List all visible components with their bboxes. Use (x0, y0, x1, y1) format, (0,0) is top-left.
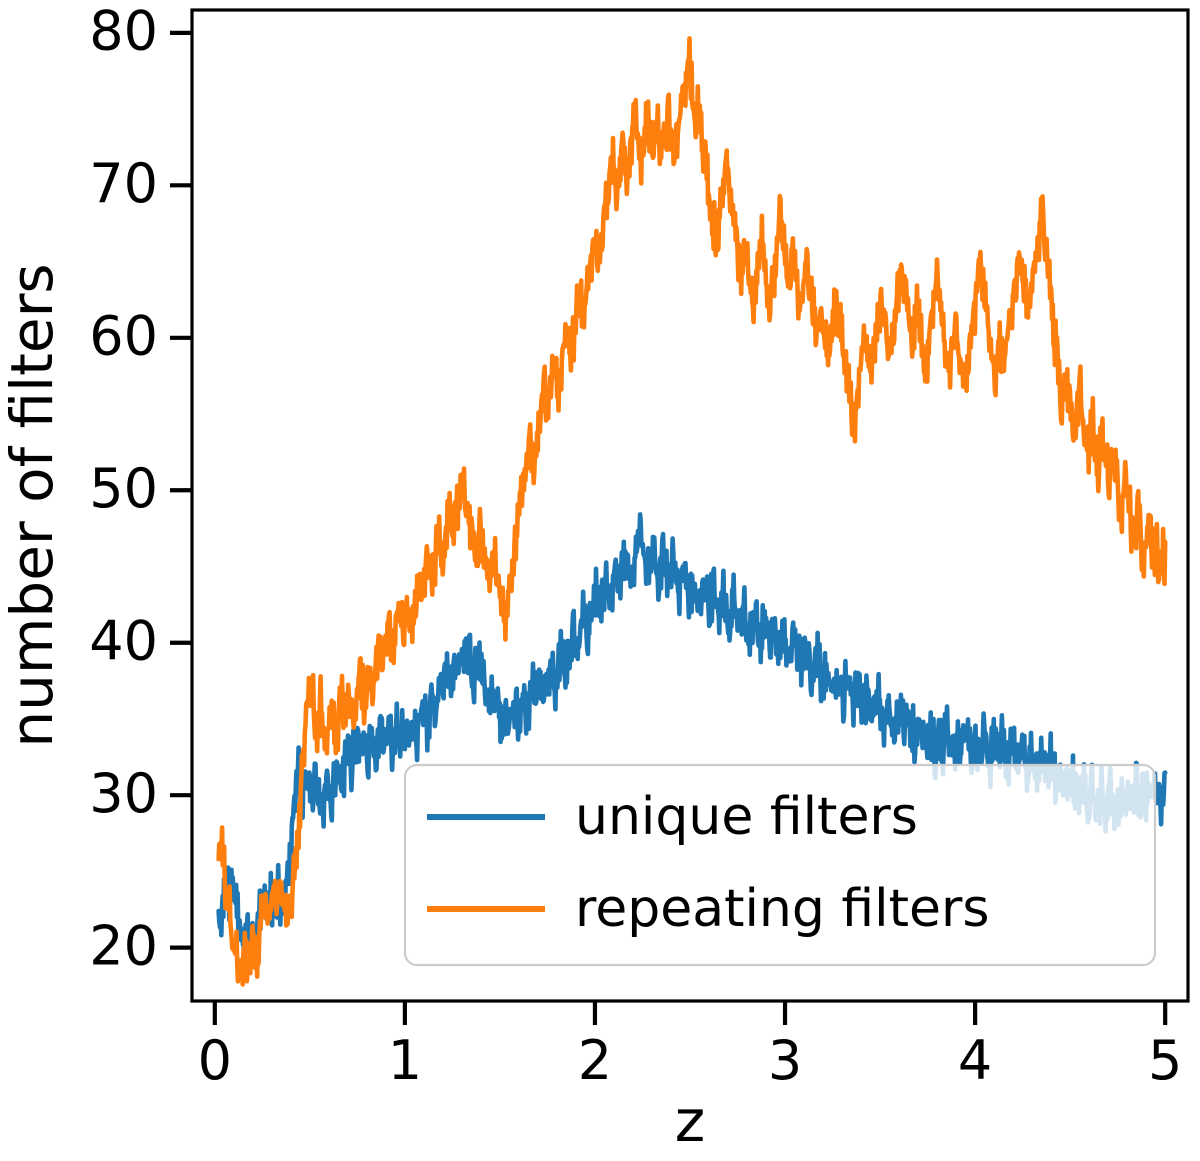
y-tick-label: 40 (89, 609, 158, 672)
x-tick-label: 4 (958, 1029, 992, 1092)
y-tick-label: 80 (89, 0, 158, 63)
legend-label-1[interactable]: repeating filters (575, 879, 989, 939)
y-tick-label: 60 (89, 304, 158, 367)
x-axis-label: z (675, 1087, 705, 1155)
legend-label-0[interactable]: unique filters (575, 787, 918, 847)
x-tick-label: 2 (578, 1029, 612, 1092)
x-tick-label: 1 (388, 1029, 422, 1092)
y-axis-label: number of filters (0, 263, 66, 747)
y-tick-label: 20 (89, 914, 158, 977)
chart-legend[interactable]: unique filtersrepeating filters (405, 765, 1155, 965)
x-tick-label: 5 (1148, 1029, 1182, 1092)
y-tick-label: 70 (89, 152, 158, 215)
line-chart: 20304050607080 012345 number of filters … (0, 0, 1200, 1161)
y-tick-label: 50 (89, 457, 158, 520)
x-tick-label: 3 (768, 1029, 802, 1092)
y-tick-label: 30 (89, 762, 158, 825)
figure-canvas: 20304050607080 012345 number of filters … (0, 0, 1200, 1161)
x-tick-label: 0 (198, 1029, 232, 1092)
